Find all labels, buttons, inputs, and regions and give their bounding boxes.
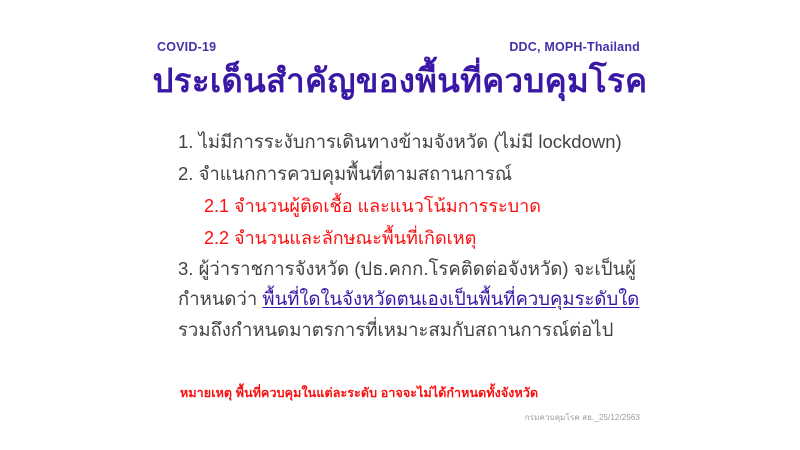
list-item-2-1: 2.1 จำนวนผู้ติดเชื้อ และแนวโน้มการระบาด — [178, 190, 698, 222]
list-item-2: 2. จำแนกการควบคุมพื้นที่ตามสถานการณ์ — [178, 158, 698, 190]
slide-title: ประเด็นสำคัญของพื้นที่ควบคุมโรค — [0, 62, 800, 100]
list-item-3-line-b-prefix: กำหนดว่า — [178, 288, 262, 309]
header-left-label: COVID-19 — [157, 40, 216, 54]
list-item-2-2: 2.2 จำนวนและลักษณะพื้นที่เกิดเหตุ — [178, 222, 698, 254]
credit-line: กรมควบคุมโรค สธ._25/12/2563 — [525, 411, 640, 424]
highlighted-underlined-phrase: พื้นที่ใดในจังหวัดตนเองเป็นพื้นที่ควบคุม… — [262, 288, 639, 309]
slide-canvas: COVID-19 DDC, MOPH-Thailand ประเด็นสำคัญ… — [0, 0, 800, 450]
body-content: 1. ไม่มีการระงับการเดินทางข้ามจังหวัด (ไ… — [178, 126, 698, 346]
footnote-note: หมายเหตุ พื้นที่ควบคุมในแต่ละระดับ อาจจะ… — [180, 383, 538, 403]
header-right-label: DDC, MOPH-Thailand — [509, 40, 640, 54]
list-item-1: 1. ไม่มีการระงับการเดินทางข้ามจังหวัด (ไ… — [178, 126, 698, 158]
list-item-3-line-b: กำหนดว่า พื้นที่ใดในจังหวัดตนเองเป็นพื้น… — [178, 284, 698, 315]
list-item-3-line-c: รวมถึงกำหนดมาตรการที่เหมาะสมกับสถานการณ์… — [178, 315, 698, 346]
list-item-3-line-a: 3. ผู้ว่าราชการจังหวัด (ปธ.คกก.โรคติดต่อ… — [178, 254, 698, 285]
